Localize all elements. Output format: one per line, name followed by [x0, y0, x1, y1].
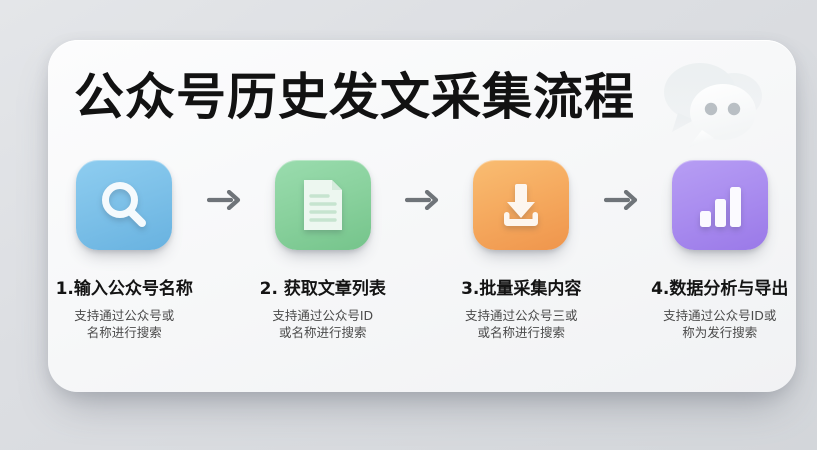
flow-step-3[interactable]: 3.批量采集内容 支持通过公众号三或 或名称进行搜索 — [445, 160, 598, 341]
arrow-right-icon — [399, 190, 445, 210]
arrow-right-icon — [201, 190, 247, 210]
bar-chart-icon — [672, 160, 768, 250]
flow-step-desc: 支持通过公众号或 名称进行搜索 — [74, 307, 174, 341]
flow-step-title: 2. 获取文章列表 — [260, 274, 386, 299]
magnifier-search-icon — [76, 160, 172, 250]
flow-step-title: 3.批量采集内容 — [461, 274, 581, 299]
flow-step-1[interactable]: 1.输入公众号名称 支持通过公众号或 名称进行搜索 — [48, 160, 201, 341]
flow-step-title: 1.输入公众号名称 — [56, 274, 193, 299]
download-arrow-icon — [473, 160, 569, 250]
flow-step-2[interactable]: 2. 获取文章列表 支持通过公众号ID 或名称进行搜索 — [247, 160, 400, 341]
document-lines-icon — [275, 160, 371, 250]
flow-step-desc: 支持通过公众号ID或 称为发行搜索 — [663, 307, 776, 341]
flow-card: 公众号历史发文采集流程 1.输入公众号名称 支持通过公众号或 名称进行搜索 — [48, 40, 796, 392]
flow-step-title: 4.数据分析与导出 — [651, 274, 788, 299]
screenshot-stage: 公众号历史发文采集流程 1.输入公众号名称 支持通过公众号或 名称进行搜索 — [0, 0, 817, 450]
flow-step-desc: 支持通过公众号三或 或名称进行搜索 — [465, 307, 578, 341]
flow-step-desc: 支持通过公众号ID 或名称进行搜索 — [272, 307, 373, 341]
flow-steps: 1.输入公众号名称 支持通过公众号或 名称进行搜索 — [48, 160, 796, 341]
wechat-chat-bubble-icon — [638, 50, 778, 175]
page-title: 公众号历史发文采集流程 — [74, 68, 635, 126]
arrow-right-icon — [598, 190, 644, 210]
flow-step-4[interactable]: 4.数据分析与导出 支持通过公众号ID或 称为发行搜索 — [644, 160, 797, 341]
